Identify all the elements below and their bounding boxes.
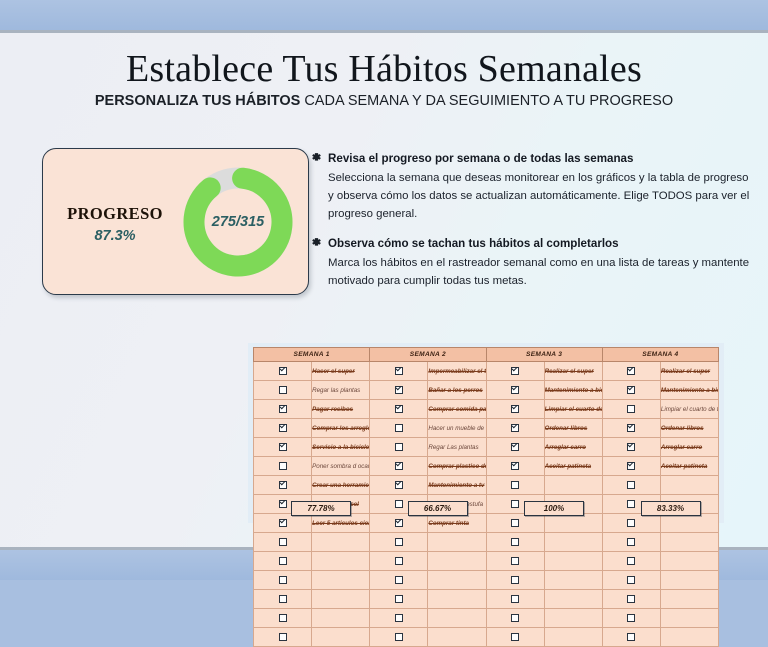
habit-label: Regar Las plantas	[428, 442, 485, 453]
habit-checkbox-cell[interactable]	[602, 476, 660, 495]
checkbox-unchecked-icon[interactable]	[511, 557, 519, 565]
habit-label-cell[interactable]: Aceitar patineta	[660, 457, 718, 476]
habit-label: Mantenimiento a bicileta	[661, 385, 718, 396]
habit-checkbox-cell[interactable]	[370, 533, 428, 552]
checkbox-unchecked-icon[interactable]	[279, 633, 287, 641]
checkbox-checked-icon[interactable]	[279, 405, 287, 413]
habit-checkbox-cell[interactable]	[486, 362, 544, 381]
habit-checkbox-cell[interactable]	[254, 381, 312, 400]
tracker-column-header: SEMANA 2	[370, 348, 486, 362]
habit-checkbox-cell[interactable]	[254, 628, 312, 647]
table-row: Hacer el superImpermeabilizar el techoRe…	[254, 362, 719, 381]
habit-checkbox-cell[interactable]	[254, 571, 312, 590]
habit-label: Hacer un mueble de madera	[428, 423, 485, 434]
habit-label-cell[interactable]	[428, 552, 486, 571]
table-row: Regar las plantasBañar a los perrosMante…	[254, 381, 719, 400]
habit-checkbox-cell[interactable]	[370, 381, 428, 400]
tracker-column-header: SEMANA 3	[486, 348, 602, 362]
habit-label: Mantenimiento a bicileta	[545, 385, 602, 396]
subtitle-light: CADA SEMANA Y DA SEGUIMIENTO A TU PROGRE…	[300, 93, 673, 109]
habit-label-cell[interactable]: Arreglar carro	[660, 438, 718, 457]
habit-checkbox-cell[interactable]	[254, 476, 312, 495]
habit-checkbox-cell[interactable]	[254, 438, 312, 457]
progress-label: PROGRESO	[55, 204, 175, 224]
checkbox-unchecked-icon[interactable]	[627, 595, 635, 603]
checkbox-unchecked-icon[interactable]	[627, 405, 635, 413]
habit-checkbox-cell[interactable]	[254, 533, 312, 552]
subtitle-strong: PERSONALIZA TUS HÁBITOS	[95, 93, 300, 109]
table-row: Pagar recibosComprar comida para gatoLim…	[254, 400, 719, 419]
checkbox-unchecked-icon[interactable]	[279, 386, 287, 394]
habit-label-cell[interactable]: Pagar recibos	[312, 400, 370, 419]
habit-checkbox-cell[interactable]	[254, 609, 312, 628]
page-subtitle: PERSONALIZA TUS HÁBITOS CADA SEMANA Y DA…	[0, 93, 768, 109]
habit-label-cell[interactable]: Crear una herramienta de Excel	[312, 476, 370, 495]
checkbox-checked-icon[interactable]	[627, 462, 635, 470]
habit-checkbox-cell[interactable]	[602, 457, 660, 476]
checkbox-unchecked-icon[interactable]	[627, 519, 635, 527]
habit-checkbox-cell[interactable]	[486, 628, 544, 647]
plus-marker-icon	[310, 237, 323, 250]
checkbox-unchecked-icon[interactable]	[627, 614, 635, 622]
habit-checkbox-cell[interactable]	[486, 571, 544, 590]
checkbox-unchecked-icon[interactable]	[279, 557, 287, 565]
page-title: Establece Tus Hábitos Semanales	[0, 47, 768, 91]
habit-label-cell[interactable]: Hacer un mueble de madera	[428, 419, 486, 438]
habit-label-cell[interactable]: Mantenimiento a bicileta	[544, 381, 602, 400]
habit-checkbox-cell[interactable]	[486, 476, 544, 495]
habit-label-cell[interactable]	[312, 533, 370, 552]
habit-label: Servicio a la bicicleta	[312, 442, 369, 453]
habit-checkbox-cell[interactable]	[370, 571, 428, 590]
habit-label-cell[interactable]	[544, 571, 602, 590]
checkbox-unchecked-icon[interactable]	[279, 538, 287, 546]
habit-label: Aceitar patineta	[661, 461, 718, 472]
habit-label: Comprar los arreglos	[312, 423, 369, 434]
table-row: Comprar los arreglosHacer un mueble de m…	[254, 419, 719, 438]
habit-checkbox-cell[interactable]	[486, 419, 544, 438]
habit-checkbox-cell[interactable]	[254, 552, 312, 571]
habit-label: Poner sombra d ocarra	[312, 461, 369, 472]
habit-label-cell[interactable]	[660, 628, 718, 647]
habit-label-cell[interactable]	[428, 609, 486, 628]
habit-label-cell[interactable]: Hacer el super	[312, 362, 370, 381]
habit-label-cell[interactable]	[428, 571, 486, 590]
checkbox-checked-icon[interactable]	[395, 386, 403, 394]
habit-tracker-panel: SEMANA 1SEMANA 2SEMANA 3SEMANA 4 Hacer e…	[248, 343, 724, 523]
habit-checkbox-cell[interactable]	[486, 381, 544, 400]
table-row	[254, 590, 719, 609]
habit-label-cell[interactable]	[660, 476, 718, 495]
table-row	[254, 552, 719, 571]
checkbox-checked-icon[interactable]	[395, 519, 403, 527]
checkbox-unchecked-icon[interactable]	[279, 595, 287, 603]
table-row	[254, 609, 719, 628]
habit-label: Regar las plantas	[312, 385, 369, 396]
checkbox-checked-icon[interactable]	[279, 424, 287, 432]
habit-checkbox-cell[interactable]	[254, 419, 312, 438]
tracker-column-header: SEMANA 1	[254, 348, 370, 362]
table-row: Poner sombra d ocarraComprar plastico de…	[254, 457, 719, 476]
habit-label-cell[interactable]	[312, 609, 370, 628]
checkbox-checked-icon[interactable]	[395, 367, 403, 375]
checkbox-checked-icon[interactable]	[511, 462, 519, 470]
habit-label-cell[interactable]: Servicio a la bicicleta	[312, 438, 370, 457]
habit-label: Crear una herramienta de Excel	[312, 480, 369, 491]
checkbox-unchecked-icon[interactable]	[395, 614, 403, 622]
progress-percent: 87.3%	[55, 228, 175, 244]
checkbox-checked-icon[interactable]	[511, 386, 519, 394]
progress-donut-chart	[173, 157, 303, 287]
habit-checkbox-cell[interactable]	[370, 590, 428, 609]
habit-label: Comprar comida para gato	[428, 404, 485, 415]
completion-percent-badge: 83.33%	[641, 501, 701, 516]
checkbox-unchecked-icon[interactable]	[395, 633, 403, 641]
table-row: Servicio a la bicicletaRegar Las plantas…	[254, 438, 719, 457]
habit-label: Limpiar el cuarto de trabajo	[545, 404, 602, 415]
habit-checkbox-cell[interactable]	[370, 362, 428, 381]
habit-label-cell[interactable]: Ordenar libros	[544, 419, 602, 438]
instruction-body: Marca los hábitos en el rastreador seman…	[328, 254, 750, 290]
habit-label-cell[interactable]: Regar Las plantas	[428, 438, 486, 457]
habit-checkbox-cell[interactable]	[370, 419, 428, 438]
habit-label-cell[interactable]	[544, 590, 602, 609]
habit-label-cell[interactable]	[660, 590, 718, 609]
checkbox-unchecked-icon[interactable]	[627, 538, 635, 546]
checkbox-checked-icon[interactable]	[511, 405, 519, 413]
habit-checkbox-cell[interactable]	[602, 590, 660, 609]
checkbox-unchecked-icon[interactable]	[627, 481, 635, 489]
checkbox-checked-icon[interactable]	[627, 424, 635, 432]
habit-checkbox-cell[interactable]	[602, 362, 660, 381]
habit-label-cell[interactable]	[544, 552, 602, 571]
habit-checkbox-cell[interactable]	[370, 438, 428, 457]
habit-label: Comprar tinta	[428, 518, 485, 529]
habit-checkbox-cell[interactable]	[602, 533, 660, 552]
checkbox-checked-icon[interactable]	[395, 481, 403, 489]
habit-checkbox-cell[interactable]	[486, 590, 544, 609]
checkbox-checked-icon[interactable]	[279, 519, 287, 527]
habit-checkbox-cell[interactable]	[370, 400, 428, 419]
habit-label-cell[interactable]	[428, 628, 486, 647]
slide-canvas: Establece Tus Hábitos Semanales PERSONAL…	[0, 0, 768, 580]
checkbox-checked-icon[interactable]	[627, 443, 635, 451]
habit-checkbox-cell[interactable]	[486, 533, 544, 552]
habit-label-cell[interactable]	[660, 552, 718, 571]
habit-label: Hacer el super	[312, 366, 369, 377]
checkbox-unchecked-icon[interactable]	[511, 519, 519, 527]
habit-checkbox-cell[interactable]	[254, 590, 312, 609]
habit-label-cell[interactable]: Poner sombra d ocarra	[312, 457, 370, 476]
habit-checkbox-cell[interactable]	[370, 609, 428, 628]
habit-tracker-table: SEMANA 1SEMANA 2SEMANA 3SEMANA 4 Hacer e…	[253, 347, 719, 647]
habit-checkbox-cell[interactable]	[486, 400, 544, 419]
habit-label-cell[interactable]: Bañar a los perros	[428, 381, 486, 400]
habit-label-cell[interactable]: Limpiar el cuarto de trabajo	[544, 400, 602, 419]
instruction-title: Observa cómo se tachan tus hábitos al co…	[328, 236, 619, 251]
top-band	[0, 0, 768, 30]
habit-label: Bañar a los perros	[428, 385, 485, 396]
habit-label-cell[interactable]	[660, 571, 718, 590]
habit-label-cell[interactable]: Limpiar el cuarto de trabajo	[660, 400, 718, 419]
habit-label-cell[interactable]	[544, 533, 602, 552]
habit-label: Arreglar carro	[545, 442, 602, 453]
habit-checkbox-cell[interactable]	[602, 552, 660, 571]
checkbox-checked-icon[interactable]	[279, 481, 287, 489]
habit-checkbox-cell[interactable]	[254, 362, 312, 381]
habit-label-cell[interactable]: Mantenimiento a bicileta	[660, 381, 718, 400]
habit-label-cell[interactable]	[312, 552, 370, 571]
plus-marker-icon	[310, 152, 323, 165]
habit-label-cell[interactable]: Comprar comida para gato	[428, 400, 486, 419]
habit-label-cell[interactable]	[544, 609, 602, 628]
habit-label: Realizar el super	[545, 366, 602, 377]
habit-checkbox-cell[interactable]	[602, 609, 660, 628]
checkbox-checked-icon[interactable]	[511, 367, 519, 375]
habit-checkbox-cell[interactable]	[602, 419, 660, 438]
checkbox-checked-icon[interactable]	[279, 367, 287, 375]
table-row	[254, 533, 719, 552]
habit-label: Leer 5 articulos cientificos	[312, 518, 369, 529]
habit-label-cell[interactable]: Mantenimiento a tv	[428, 476, 486, 495]
instruction-item: Revisa el progreso por semana o de todas…	[310, 151, 750, 223]
habit-label-cell[interactable]: Regar las plantas	[312, 381, 370, 400]
habit-label: Aceitar patineta	[545, 461, 602, 472]
habit-label-cell[interactable]	[312, 590, 370, 609]
checkbox-unchecked-icon[interactable]	[511, 633, 519, 641]
habit-label-cell[interactable]	[312, 571, 370, 590]
completion-percent-badge: 100%	[524, 501, 584, 516]
habit-label: Ordenar libros	[545, 423, 602, 434]
checkbox-unchecked-icon[interactable]	[279, 614, 287, 622]
checkbox-checked-icon[interactable]	[627, 386, 635, 394]
completion-percent-badge: 77.78%	[291, 501, 351, 516]
habit-checkbox-cell[interactable]	[370, 457, 428, 476]
checkbox-unchecked-icon[interactable]	[395, 557, 403, 565]
checkbox-unchecked-icon[interactable]	[279, 462, 287, 470]
checkbox-checked-icon[interactable]	[395, 405, 403, 413]
habit-label-cell[interactable]: Impermeabilizar el techo	[428, 362, 486, 381]
checkbox-checked-icon[interactable]	[627, 367, 635, 375]
habit-checkbox-cell[interactable]	[254, 400, 312, 419]
habit-checkbox-cell[interactable]	[486, 552, 544, 571]
habit-label-cell[interactable]: Aceitar patineta	[544, 457, 602, 476]
habit-label-cell[interactable]: Ordenar libros	[660, 419, 718, 438]
habit-label-cell[interactable]	[660, 609, 718, 628]
table-row	[254, 571, 719, 590]
habit-checkbox-cell[interactable]	[370, 552, 428, 571]
checkbox-unchecked-icon[interactable]	[395, 424, 403, 432]
progress-card: PROGRESO 87.3% 275/315	[42, 148, 309, 295]
habit-label-cell[interactable]: Realizar el super	[544, 362, 602, 381]
habit-label: Comprar plastico de impresora	[428, 461, 485, 472]
habit-checkbox-cell[interactable]	[370, 476, 428, 495]
completion-percent-row: 77.78%66.67%100%83.33%	[253, 501, 719, 519]
habit-label: Impermeabilizar el techo	[428, 366, 485, 377]
habit-label: Mantenimiento a tv	[428, 480, 485, 491]
habit-label-cell[interactable]: Realizar el super	[660, 362, 718, 381]
tracker-header-row: SEMANA 1SEMANA 2SEMANA 3SEMANA 4	[254, 348, 719, 362]
checkbox-unchecked-icon[interactable]	[511, 538, 519, 546]
checkbox-unchecked-icon[interactable]	[395, 595, 403, 603]
checkbox-unchecked-icon[interactable]	[511, 614, 519, 622]
habit-label-cell[interactable]: Arreglar carro	[544, 438, 602, 457]
slide-body: Establece Tus Hábitos Semanales PERSONAL…	[0, 33, 768, 547]
habit-checkbox-cell[interactable]	[602, 571, 660, 590]
tracker-column-header: SEMANA 4	[602, 348, 718, 362]
habit-label-cell[interactable]: Comprar plastico de impresora	[428, 457, 486, 476]
habit-label: Realizar el super	[661, 366, 718, 377]
checkbox-unchecked-icon[interactable]	[395, 538, 403, 546]
habit-label: Pagar recibos	[312, 404, 369, 415]
checkbox-checked-icon[interactable]	[279, 443, 287, 451]
checkbox-checked-icon[interactable]	[395, 462, 403, 470]
checkbox-checked-icon[interactable]	[511, 424, 519, 432]
instruction-list: Revisa el progreso por semana o de todas…	[310, 151, 750, 303]
habit-checkbox-cell[interactable]	[370, 628, 428, 647]
habit-checkbox-cell[interactable]	[602, 628, 660, 647]
table-row: Crear una herramienta de ExcelMantenimie…	[254, 476, 719, 495]
table-row	[254, 628, 719, 647]
checkbox-unchecked-icon[interactable]	[395, 443, 403, 451]
habit-label: Ordenar libros	[661, 423, 718, 434]
habit-checkbox-cell[interactable]	[486, 438, 544, 457]
checkbox-unchecked-icon[interactable]	[511, 481, 519, 489]
instruction-title: Revisa el progreso por semana o de todas…	[328, 151, 633, 166]
habit-label: Arreglar carro	[661, 442, 718, 453]
checkbox-unchecked-icon[interactable]	[511, 595, 519, 603]
habit-label-cell[interactable]	[312, 628, 370, 647]
habit-checkbox-cell[interactable]	[602, 400, 660, 419]
habit-label-cell[interactable]	[428, 590, 486, 609]
instruction-item: Observa cómo se tachan tus hábitos al co…	[310, 236, 750, 290]
checkbox-unchecked-icon[interactable]	[627, 557, 635, 565]
checkbox-checked-icon[interactable]	[511, 443, 519, 451]
habit-checkbox-cell[interactable]	[254, 457, 312, 476]
completion-percent-badge: 66.67%	[408, 501, 468, 516]
habit-label-cell[interactable]	[544, 476, 602, 495]
habit-label-cell[interactable]: Comprar los arreglos	[312, 419, 370, 438]
habit-checkbox-cell[interactable]	[602, 438, 660, 457]
habit-checkbox-cell[interactable]	[486, 609, 544, 628]
habit-label-cell[interactable]	[428, 533, 486, 552]
habit-checkbox-cell[interactable]	[486, 457, 544, 476]
habit-label: Limpiar el cuarto de trabajo	[661, 404, 718, 415]
habit-checkbox-cell[interactable]	[602, 381, 660, 400]
habit-label-cell[interactable]	[544, 628, 602, 647]
habit-label-cell[interactable]	[660, 533, 718, 552]
checkbox-unchecked-icon[interactable]	[627, 633, 635, 641]
instruction-body: Selecciona la semana que deseas monitore…	[328, 169, 750, 223]
